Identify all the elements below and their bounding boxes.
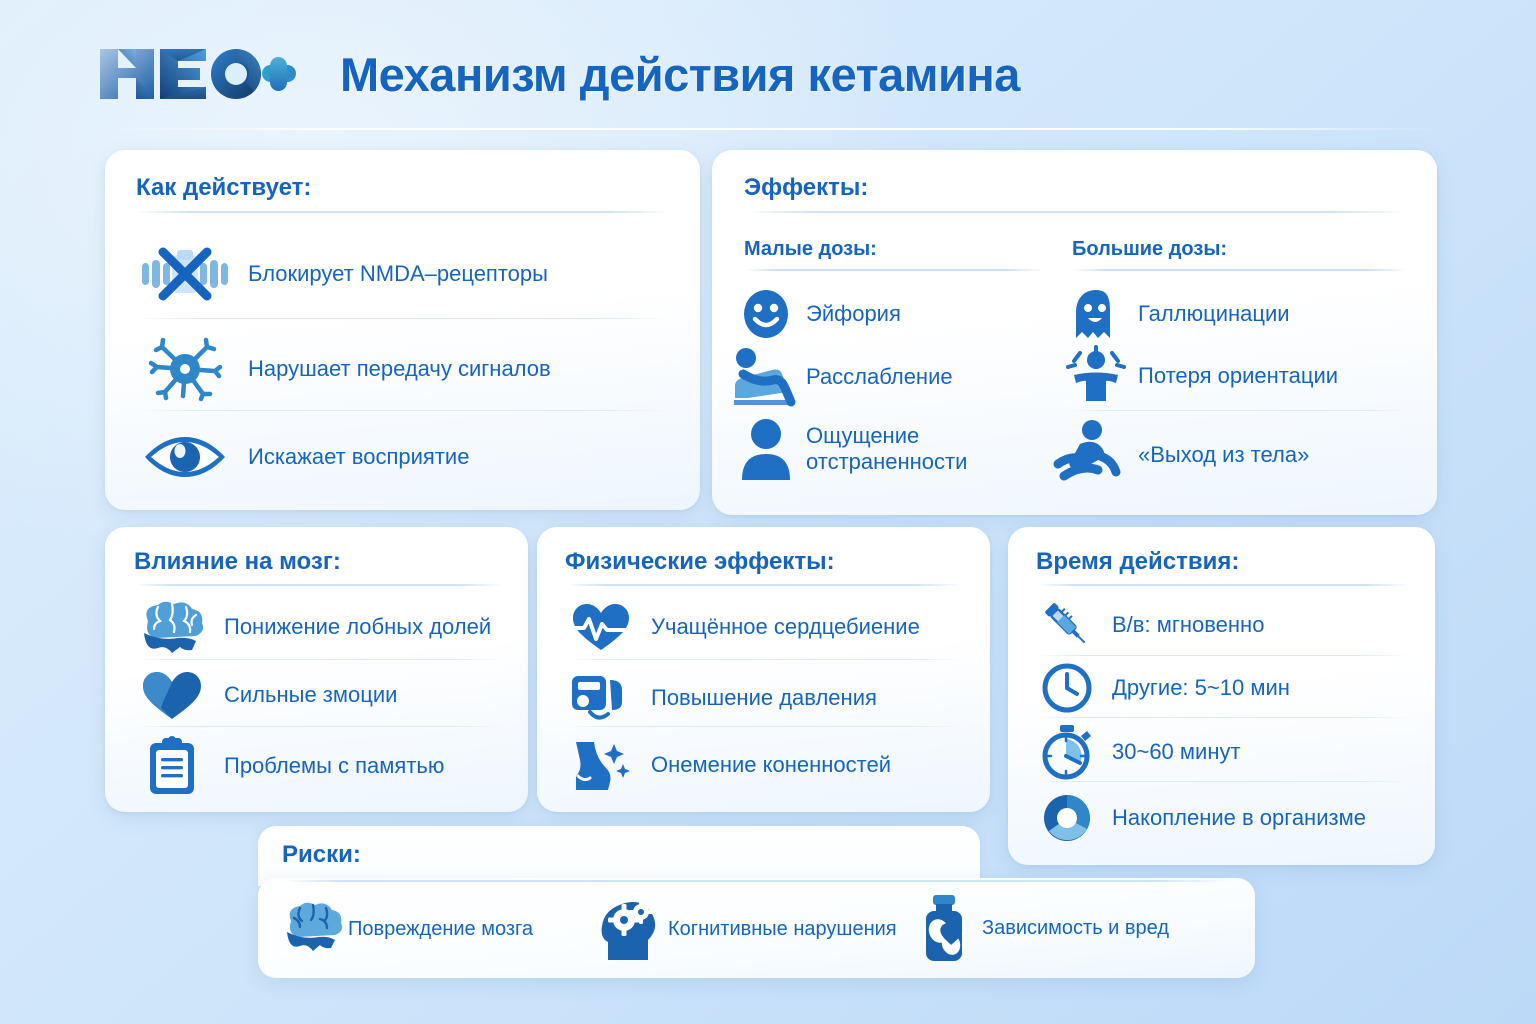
blocked-receptor-icon bbox=[136, 246, 234, 302]
row-separator bbox=[1036, 717, 1410, 718]
list-item: В/в: мгновенно bbox=[1036, 598, 1416, 652]
card-risks-title: Риски: bbox=[282, 841, 361, 869]
list-item: Галлюцинации bbox=[1068, 288, 1418, 340]
risk-item: Зависимость и вред bbox=[920, 895, 1169, 961]
list-item: Ощущение отстраненности bbox=[740, 415, 1060, 483]
list-item: Эйфория bbox=[740, 288, 1060, 340]
row-separator bbox=[136, 410, 672, 411]
list-item: Понижение лобных долей bbox=[134, 601, 514, 653]
list-item: 30~60 минут bbox=[1036, 725, 1416, 779]
smiley-icon bbox=[740, 289, 792, 339]
donut-chart-icon bbox=[1036, 793, 1098, 843]
subhead-high-dose: Большие дозы: bbox=[1072, 238, 1227, 261]
card-risks-header-panel bbox=[258, 826, 980, 886]
header: Механизм действия кетамина bbox=[0, 0, 1536, 130]
list-item: Сильные змоции bbox=[134, 670, 514, 720]
dizzy-person-icon bbox=[1068, 349, 1124, 403]
list-item-label: Потеря ориентации bbox=[1138, 363, 1338, 389]
row-separator bbox=[1036, 655, 1410, 656]
list-item-label: Онемение коненностей bbox=[651, 752, 891, 778]
eye-icon bbox=[136, 433, 234, 481]
card-effects-title: Эффекты: bbox=[744, 174, 868, 202]
risk-item: Когнитивные нарушения bbox=[600, 898, 897, 960]
risk-item-label: Когнитивные нарушения bbox=[668, 918, 897, 941]
brain-icon bbox=[134, 601, 210, 653]
risk-item-label: Повреждение мозга bbox=[348, 918, 533, 941]
list-item-label: Эйфория bbox=[806, 301, 901, 327]
row-separator bbox=[565, 659, 963, 660]
pill-bottle-icon bbox=[920, 895, 972, 961]
list-item-label: «Выход из тела» bbox=[1138, 442, 1309, 468]
list-item: Повышение давления bbox=[565, 670, 975, 726]
list-item-label: Повышение давления bbox=[651, 685, 877, 711]
ghost-icon bbox=[1068, 288, 1124, 340]
row-separator bbox=[1036, 781, 1410, 782]
list-item-label: Накопление в организме bbox=[1112, 805, 1366, 831]
row-separator bbox=[565, 726, 963, 727]
clock-icon bbox=[1036, 663, 1098, 713]
list-item-label: Расслабление bbox=[806, 364, 953, 390]
list-item: Расслабление bbox=[740, 348, 1060, 406]
header-divider bbox=[96, 128, 1440, 130]
list-item-label: Сильные змоции bbox=[224, 682, 397, 708]
numb-foot-icon bbox=[565, 738, 637, 792]
list-item: Накопление в организме bbox=[1036, 792, 1416, 844]
list-item: Искажает восприятие bbox=[136, 432, 676, 482]
list-item-label: Учащённое сердцебиение bbox=[651, 614, 920, 640]
list-item: Учащённое сердцебиение bbox=[565, 601, 975, 653]
list-item-label: Проблемы с памятью bbox=[224, 753, 444, 779]
subhead-low-dose-divider bbox=[744, 269, 1044, 271]
list-item-label: Галлюцинации bbox=[1138, 301, 1290, 327]
stopwatch-icon bbox=[1036, 725, 1098, 779]
risk-item-label: Зависимость и вред bbox=[982, 917, 1169, 940]
card-duration-divider bbox=[1036, 584, 1410, 586]
list-item-label: Ощущение отстраненности bbox=[806, 423, 967, 474]
heart-icon bbox=[134, 670, 210, 720]
row-separator bbox=[136, 318, 672, 319]
card-mechanism-divider bbox=[136, 211, 672, 213]
card-brain-title: Влияние на мозг: bbox=[134, 548, 341, 576]
row-separator bbox=[1068, 410, 1410, 411]
person-bust-icon bbox=[740, 418, 792, 480]
list-item-label: В/в: мгновенно bbox=[1112, 612, 1264, 638]
list-item: Нарушает передачу сигналов bbox=[136, 338, 676, 400]
head-gears-icon bbox=[600, 898, 658, 960]
list-item: Потеря ориентации bbox=[1068, 348, 1418, 404]
page-title: Механизм действия кетамина bbox=[340, 47, 1020, 102]
list-item: Другие: 5~10 мин bbox=[1036, 662, 1416, 714]
list-item-label: Искажает восприятие bbox=[248, 444, 469, 470]
card-mechanism-title: Как действует: bbox=[136, 174, 311, 202]
subhead-low-dose: Малые дозы: bbox=[744, 238, 877, 261]
card-physical-divider bbox=[565, 584, 963, 586]
list-item-label: Другие: 5~10 мин bbox=[1112, 675, 1290, 701]
neo-plus-logo bbox=[96, 43, 296, 105]
row-separator bbox=[134, 726, 504, 727]
list-item: Проблемы с памятью bbox=[134, 737, 514, 795]
list-item-label: Блокирует NMDA–рецепторы bbox=[248, 261, 548, 287]
card-brain-divider bbox=[134, 584, 504, 586]
row-separator bbox=[134, 659, 504, 660]
card-physical-title: Физические эффекты: bbox=[565, 548, 835, 576]
reclining-person-icon bbox=[740, 348, 792, 406]
list-item-label: Нарушает передачу сигналов bbox=[248, 356, 551, 382]
list-item: «Выход из тела» bbox=[1050, 420, 1420, 490]
neuron-icon bbox=[136, 338, 234, 400]
list-item-label: Понижение лобных долей bbox=[224, 614, 491, 640]
subhead-high-dose-divider bbox=[1072, 269, 1410, 271]
card-risks-divider bbox=[282, 880, 1232, 882]
damaged-brain-icon bbox=[282, 901, 338, 957]
clipboard-icon bbox=[134, 736, 210, 796]
floating-person-icon bbox=[1050, 420, 1124, 490]
list-item-label: 30~60 минут bbox=[1112, 739, 1241, 765]
list-item: Блокирует NMDA–рецепторы bbox=[136, 246, 676, 302]
card-effects-divider bbox=[744, 211, 1409, 213]
heart-pulse-icon bbox=[565, 602, 637, 652]
infographic-canvas: Механизм действия кетамина Как действует… bbox=[0, 0, 1536, 1024]
syringe-icon bbox=[1036, 598, 1098, 652]
list-item: Онемение коненностей bbox=[565, 737, 975, 793]
blood-pressure-monitor-icon bbox=[565, 670, 637, 726]
card-duration-title: Время действия: bbox=[1036, 548, 1239, 576]
risk-item: Повреждение мозга bbox=[282, 900, 533, 958]
